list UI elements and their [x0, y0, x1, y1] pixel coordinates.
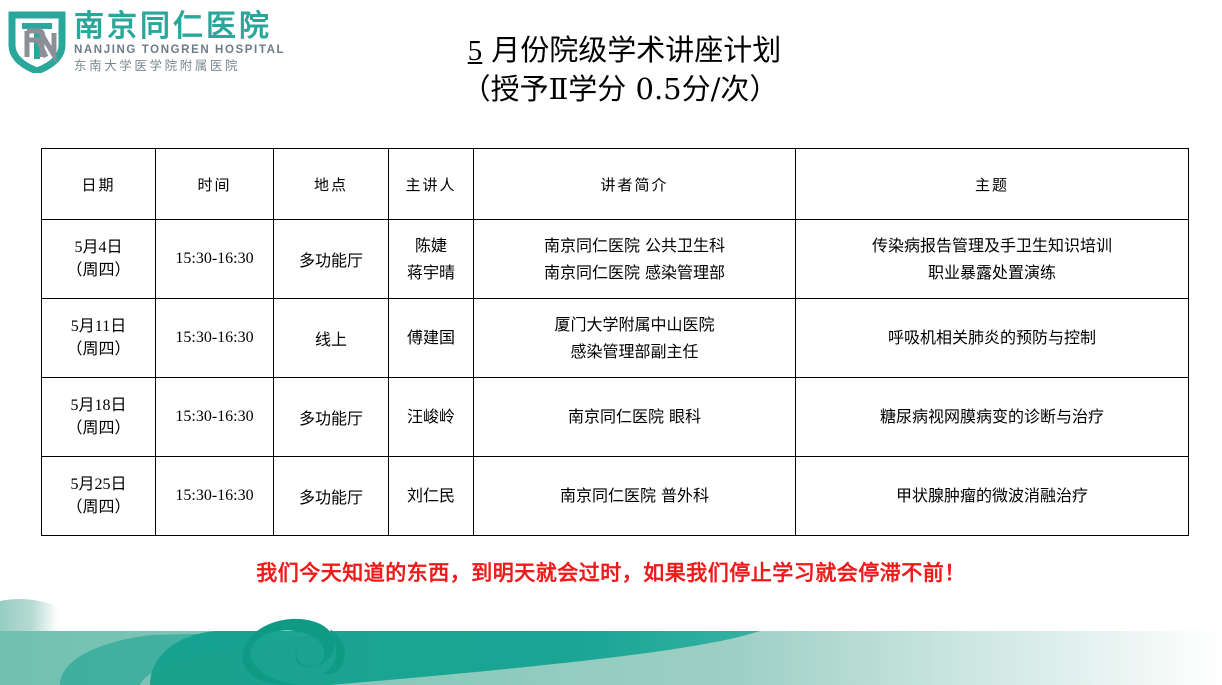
- date-line-1: 5月11日: [46, 315, 151, 338]
- topic-line-1: 传染病报告管理及手卫生知识培训: [800, 232, 1184, 259]
- cell-bio: 南京同仁医院 眼科: [474, 378, 796, 457]
- topic-line-1: 糖尿病视网膜病变的诊断与治疗: [800, 403, 1184, 430]
- logo-hospital-name-en: NANJING TONGREN HOSPITAL: [74, 45, 285, 57]
- title-line-1-suffix: 月份院级学术讲座计划: [491, 33, 781, 67]
- logo-text-block: 南京同仁医院 NANJING TONGREN HOSPITAL 东南大学医学院附…: [74, 12, 285, 73]
- cell-date: 5月4日 （周四）: [42, 220, 156, 299]
- bio-line-1: 厦门大学附属中山医院: [478, 311, 791, 338]
- cell-time: 15:30-16:30: [156, 220, 274, 299]
- cell-place: 多功能厅: [274, 378, 389, 457]
- cell-time: 15:30-16:30: [156, 457, 274, 536]
- table-row: 5月4日 （周四） 15:30-16:30 多功能厅 陈婕 蒋宇晴 南京同仁医院…: [42, 220, 1189, 299]
- hospital-logo: 南京同仁医院 NANJING TONGREN HOSPITAL 东南大学医学院附…: [8, 6, 308, 78]
- cell-topic: 甲状腺肿瘤的微波消融治疗: [796, 457, 1189, 536]
- cell-speaker: 汪峻岭: [389, 378, 474, 457]
- bio-line-2: 感染管理部副主任: [478, 338, 791, 365]
- title-line-2: （授予Ⅱ学分 0.5分/次）: [330, 71, 910, 109]
- column-header-place: 地点: [274, 149, 389, 220]
- column-header-date: 日期: [42, 149, 156, 220]
- cell-date: 5月25日 （周四）: [42, 457, 156, 536]
- cell-bio: 南京同仁医院 普外科: [474, 457, 796, 536]
- logo-affiliation-cn: 东南大学医学院附属医院: [74, 60, 285, 73]
- bottom-wave-decoration: [0, 585, 1222, 685]
- footer-slogan: 我们今天知道的东西，到明天就会过时，如果我们停止学习就会停滞不前！: [0, 557, 1222, 587]
- shield-monogram-icon: [8, 11, 66, 73]
- column-header-bio: 讲者简介: [474, 149, 796, 220]
- date-line-1: 5月18日: [46, 394, 151, 417]
- title-month-value: 5: [459, 35, 492, 67]
- cell-time: 15:30-16:30: [156, 378, 274, 457]
- table-row: 5月11日 （周四） 15:30-16:30 线上 傅建国 厦门大学附属中山医院…: [42, 299, 1189, 378]
- bio-line-1: 南京同仁医院 公共卫生科: [478, 232, 791, 259]
- cell-topic: 传染病报告管理及手卫生知识培训 职业暴露处置演练: [796, 220, 1189, 299]
- date-line-2: （周四）: [46, 338, 151, 361]
- cell-bio: 厦门大学附属中山医院 感染管理部副主任: [474, 299, 796, 378]
- cell-topic: 呼吸机相关肺炎的预防与控制: [796, 299, 1189, 378]
- cell-date: 5月18日 （周四）: [42, 378, 156, 457]
- cell-speaker: 刘仁民: [389, 457, 474, 536]
- cell-date: 5月11日 （周四）: [42, 299, 156, 378]
- cell-speaker: 陈婕 蒋宇晴: [389, 220, 474, 299]
- bio-line-1: 南京同仁医院 普外科: [478, 482, 791, 509]
- cell-topic: 糖尿病视网膜病变的诊断与治疗: [796, 378, 1189, 457]
- title-line-1: 5月份院级学术讲座计划: [330, 32, 910, 69]
- speaker-line-1: 汪峻岭: [393, 403, 469, 430]
- date-line-2: （周四）: [46, 259, 151, 282]
- bio-line-2: 南京同仁医院 感染管理部: [478, 259, 791, 286]
- column-header-topic: 主题: [796, 149, 1189, 220]
- speaker-line-1: 刘仁民: [393, 482, 469, 509]
- date-line-1: 5月4日: [46, 236, 151, 259]
- cell-place: 多功能厅: [274, 220, 389, 299]
- topic-line-2: 职业暴露处置演练: [800, 259, 1184, 286]
- date-line-2: （周四）: [46, 496, 151, 519]
- cell-speaker: 傅建国: [389, 299, 474, 378]
- date-line-2: （周四）: [46, 417, 151, 440]
- speaker-line-1: 陈婕: [393, 232, 469, 259]
- cell-place: 线上: [274, 299, 389, 378]
- cell-bio: 南京同仁医院 公共卫生科 南京同仁医院 感染管理部: [474, 220, 796, 299]
- table-header-row: 日期 时间 地点 主讲人 讲者简介 主题: [42, 149, 1189, 220]
- column-header-speaker: 主讲人: [389, 149, 474, 220]
- lecture-schedule-table: 日期 时间 地点 主讲人 讲者简介 主题 5月4日 （周四） 15:30-16:…: [41, 148, 1189, 536]
- cell-place: 多功能厅: [274, 457, 389, 536]
- speaker-line-1: 傅建国: [393, 324, 469, 351]
- bio-line-1: 南京同仁医院 眼科: [478, 403, 791, 430]
- topic-line-1: 呼吸机相关肺炎的预防与控制: [800, 324, 1184, 351]
- cell-time: 15:30-16:30: [156, 299, 274, 378]
- column-header-time: 时间: [156, 149, 274, 220]
- date-line-1: 5月25日: [46, 473, 151, 496]
- speaker-line-2: 蒋宇晴: [393, 259, 469, 286]
- table-row: 5月18日 （周四） 15:30-16:30 多功能厅 汪峻岭 南京同仁医院 眼…: [42, 378, 1189, 457]
- topic-line-1: 甲状腺肿瘤的微波消融治疗: [800, 482, 1184, 509]
- page-title: 5月份院级学术讲座计划 （授予Ⅱ学分 0.5分/次）: [330, 32, 910, 109]
- table-row: 5月25日 （周四） 15:30-16:30 多功能厅 刘仁民 南京同仁医院 普…: [42, 457, 1189, 536]
- logo-hospital-name-cn: 南京同仁医院: [74, 12, 285, 42]
